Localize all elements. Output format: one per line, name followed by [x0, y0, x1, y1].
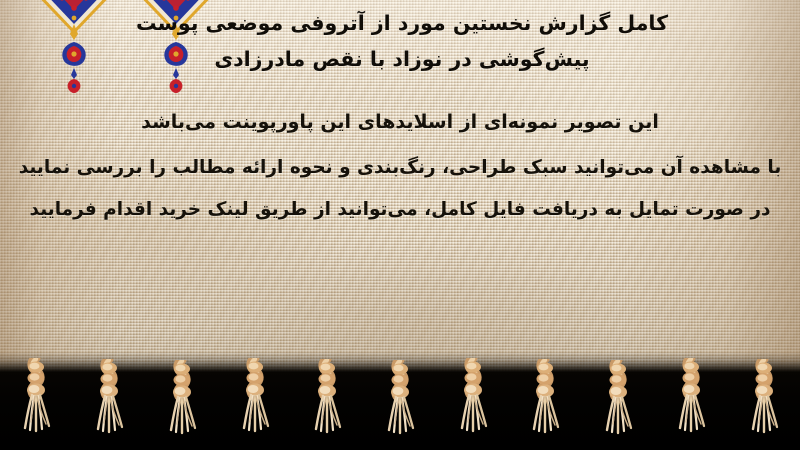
- slide-title-line-1: کامل گزارش نخستین مورد از آتروفی موضعی پ…: [22, 12, 782, 35]
- tassel: [310, 359, 344, 439]
- tassel: [165, 360, 199, 440]
- tassel: [383, 360, 417, 440]
- slide-body-line-2: با مشاهده آن می‌توانید سبک طراحی، رنگ‌بن…: [16, 158, 784, 179]
- slide-body-line-1: این تصویر نمونه‌ای از اسلایدهای این پاور…: [16, 112, 784, 133]
- tassel: [238, 358, 272, 438]
- slide-canvas: کامل گزارش نخستین مورد از آتروفی موضعی پ…: [0, 0, 800, 450]
- tassel: [92, 359, 126, 439]
- tassel: [19, 358, 53, 438]
- tassel: [674, 358, 708, 438]
- text-layer: کامل گزارش نخستین مورد از آتروفی موضعی پ…: [0, 0, 800, 372]
- tassel: [747, 359, 781, 439]
- tassel: [456, 358, 490, 438]
- tassel: [528, 359, 562, 439]
- tassel: [601, 360, 635, 440]
- fringe-band: [0, 352, 800, 450]
- slide-body-line-3: در صورت تمایل به دریافت فایل کامل، می‌تو…: [16, 200, 784, 221]
- slide-title-line-2: پیش‌گوشی در نوزاد با نقص مادرزادی: [22, 48, 782, 71]
